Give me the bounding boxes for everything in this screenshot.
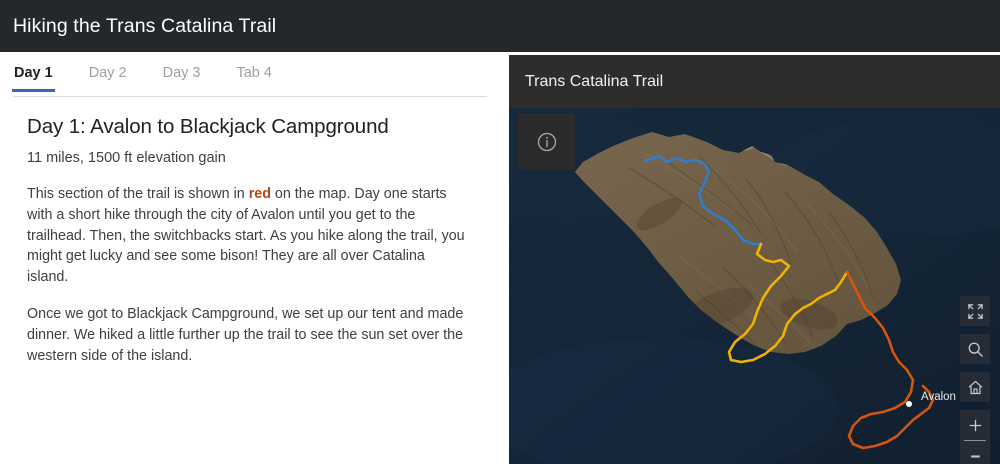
- map-header: Trans Catalina Trail: [509, 55, 1000, 108]
- page-title: Hiking the Trans Catalina Trail: [0, 15, 276, 38]
- info-icon: [536, 131, 558, 153]
- search-button[interactable]: [960, 334, 990, 364]
- article-paragraph-1: This section of the trail is shown in re…: [27, 184, 467, 287]
- app-title-bar: Hiking the Trans Catalina Trail: [0, 0, 1000, 52]
- zoom-control-group: [960, 410, 990, 464]
- search-icon: [967, 341, 984, 358]
- tab-day-3[interactable]: Day 3: [162, 61, 202, 91]
- paragraph-1-text-before: This section of the trail is shown in: [27, 186, 249, 202]
- avalon-label: Avalon: [921, 391, 956, 403]
- minus-icon: [968, 449, 983, 464]
- expand-icon: [967, 303, 984, 320]
- plus-icon: [968, 418, 983, 433]
- article-subheading: 11 miles, 1500 ft elevation gain: [27, 149, 473, 168]
- article-paragraph-2: Once we got to Blackjack Campground, we …: [27, 304, 467, 366]
- map-title: Trans Catalina Trail: [509, 73, 663, 91]
- map-basemap-image: Avalon: [509, 108, 1000, 464]
- article-heading: Day 1: Avalon to Blackjack Campground: [27, 114, 473, 140]
- info-button[interactable]: [518, 113, 575, 170]
- article-body: Day 1: Avalon to Blackjack Campground 11…: [0, 97, 500, 366]
- zoom-out-button[interactable]: [960, 441, 990, 464]
- map-card: Trans Catalina Trail: [509, 55, 1000, 464]
- tab-strip: Day 1 Day 2 Day 3 Tab 4: [13, 61, 487, 97]
- tab-4[interactable]: Tab 4: [235, 61, 272, 91]
- avalon-city-marker: [906, 401, 912, 407]
- map-viewport[interactable]: Avalon: [509, 108, 1000, 464]
- tab-day-2[interactable]: Day 2: [88, 61, 128, 91]
- left-content-pane: Day 1 Day 2 Day 3 Tab 4 Day 1: Avalon to…: [0, 52, 500, 464]
- tab-day-1[interactable]: Day 1: [13, 61, 54, 91]
- fullscreen-button[interactable]: [960, 296, 990, 326]
- map-control-stack: [960, 296, 990, 464]
- home-icon: [967, 379, 984, 396]
- zoom-in-button[interactable]: [960, 410, 990, 440]
- home-button[interactable]: [960, 372, 990, 402]
- red-highlight-text: red: [249, 186, 271, 202]
